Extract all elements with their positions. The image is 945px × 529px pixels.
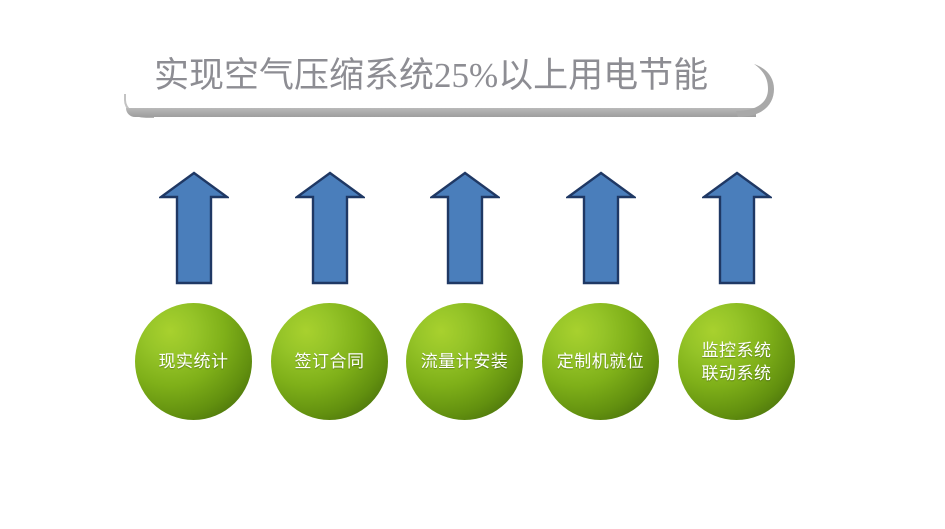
- arrow-up-icon: [295, 171, 365, 285]
- process-node-label: 定制机就位: [557, 350, 645, 373]
- process-node-4[interactable]: 定制机就位: [542, 303, 659, 420]
- process-node-label: 流量计安装: [421, 350, 509, 373]
- arrow-up-icon: [430, 171, 500, 285]
- banner-underline-bar: [126, 108, 756, 117]
- process-node-label: 监控系统 联动系统: [702, 339, 772, 385]
- process-node-3[interactable]: 流量计安装: [406, 303, 523, 420]
- arrow-up-icon: [159, 171, 229, 285]
- arrow-up-icon: [566, 171, 636, 285]
- process-node-2[interactable]: 签订合同: [271, 303, 388, 420]
- slide-canvas: 实现空气压缩系统25%以上用电节能 现实统计 签订合同 流量计安装 定制机就位 …: [0, 0, 945, 529]
- title-banner: 实现空气压缩系统25%以上用电节能: [124, 44, 784, 124]
- process-node-1[interactable]: 现实统计: [135, 303, 252, 420]
- process-node-5[interactable]: 监控系统 联动系统: [678, 303, 795, 420]
- arrow-up-icon: [702, 171, 772, 285]
- page-title: 实现空气压缩系统25%以上用电节能: [154, 50, 754, 102]
- process-node-label: 签订合同: [295, 350, 365, 373]
- process-node-label: 现实统计: [159, 350, 229, 373]
